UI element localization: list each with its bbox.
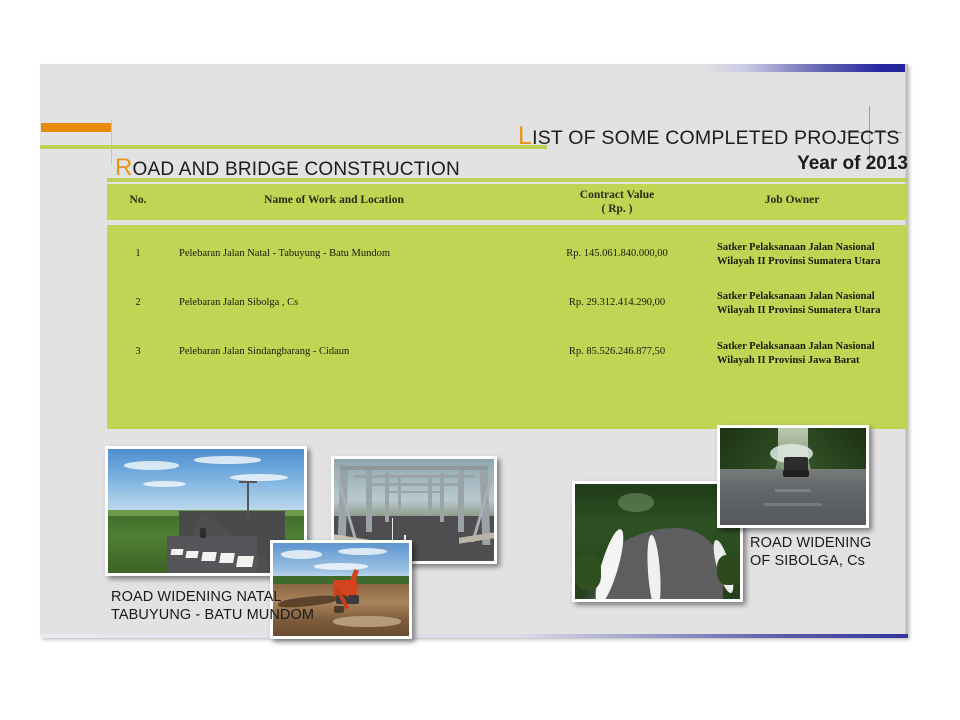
vertical-hairline: [111, 120, 112, 164]
column-header-no: No.: [107, 194, 169, 206]
slide-canvas: LIST OF SOME COMPLETED PROJECTS Year of …: [0, 0, 960, 720]
slide-bottom-blue-line: [40, 634, 908, 638]
cell-job-owner: Satker Pelaksanaan Jalan Nasional Wilaya…: [717, 241, 892, 268]
cell-no: 1: [107, 247, 169, 261]
photo-caption-left: ROAD WIDENING NATAL TABUYUNG - BATU MUND…: [111, 588, 314, 624]
cell-name: Pelebaran Jalan Sibolga , Cs: [179, 296, 529, 310]
column-header-contract-value-line2: ( Rp. ): [527, 202, 707, 216]
cell-name: Pelebaran Jalan Sindangbarang - Cidaun: [179, 345, 529, 359]
table-row: 3 Pelebaran Jalan Sindangbarang - Cidaun…: [107, 337, 908, 385]
table-header-row: No. Name of Work and Location Contract V…: [107, 184, 908, 220]
page-title: LIST OF SOME COMPLETED PROJECTS: [518, 122, 908, 151]
cell-name: Pelebaran Jalan Natal - Tabuyung - Batu …: [179, 247, 529, 261]
photo-wet-road-with-roller: [717, 425, 869, 528]
column-header-job-owner: Job Owner: [717, 194, 867, 206]
cell-job-owner: Satker Pelaksanaan Jalan Nasional Wilaya…: [717, 290, 892, 317]
cell-no: 2: [107, 296, 169, 310]
page-subtitle: ROAD AND BRIDGE CONSTRUCTION: [115, 154, 460, 182]
table-row: 1 Pelebaran Jalan Natal - Tabuyung - Bat…: [107, 239, 908, 287]
cell-contract-value: Rp. 29.312.414.290,00: [527, 296, 707, 310]
page-subtitle-text: OAD AND BRIDGE CONSTRUCTION: [133, 159, 460, 180]
column-header-contract-value-line1: Contract Value: [527, 188, 707, 202]
green-rule-upper: [40, 145, 517, 149]
slide-top-blue-bar: [702, 64, 908, 72]
cell-contract-value: Rp. 85.526.246.877,50: [527, 345, 707, 359]
cell-contract-value: Rp. 145.061.840.000,00: [527, 247, 707, 261]
page-title-dropcap: L: [518, 122, 532, 150]
cell-no: 3: [107, 345, 169, 359]
cell-job-owner: Satker Pelaksanaan Jalan Nasional Wilaya…: [717, 340, 892, 367]
column-header-contract-value: Contract Value ( Rp. ): [527, 188, 707, 216]
page-title-text: IST OF SOME COMPLETED PROJECTS: [532, 127, 900, 149]
table-row: 2 Pelebaran Jalan Sibolga , Cs Rp. 29.31…: [107, 288, 908, 336]
page-title-year: Year of 2013: [518, 153, 908, 175]
photo-caption-right: ROAD WIDENING OF SIBOLGA, Cs: [750, 534, 871, 570]
column-header-name: Name of Work and Location: [169, 194, 499, 206]
orange-accent-bar: [41, 123, 111, 132]
page-subtitle-dropcap: R: [115, 154, 133, 181]
table-body-panel: 1 Pelebaran Jalan Natal - Tabuyung - Bat…: [107, 225, 908, 429]
